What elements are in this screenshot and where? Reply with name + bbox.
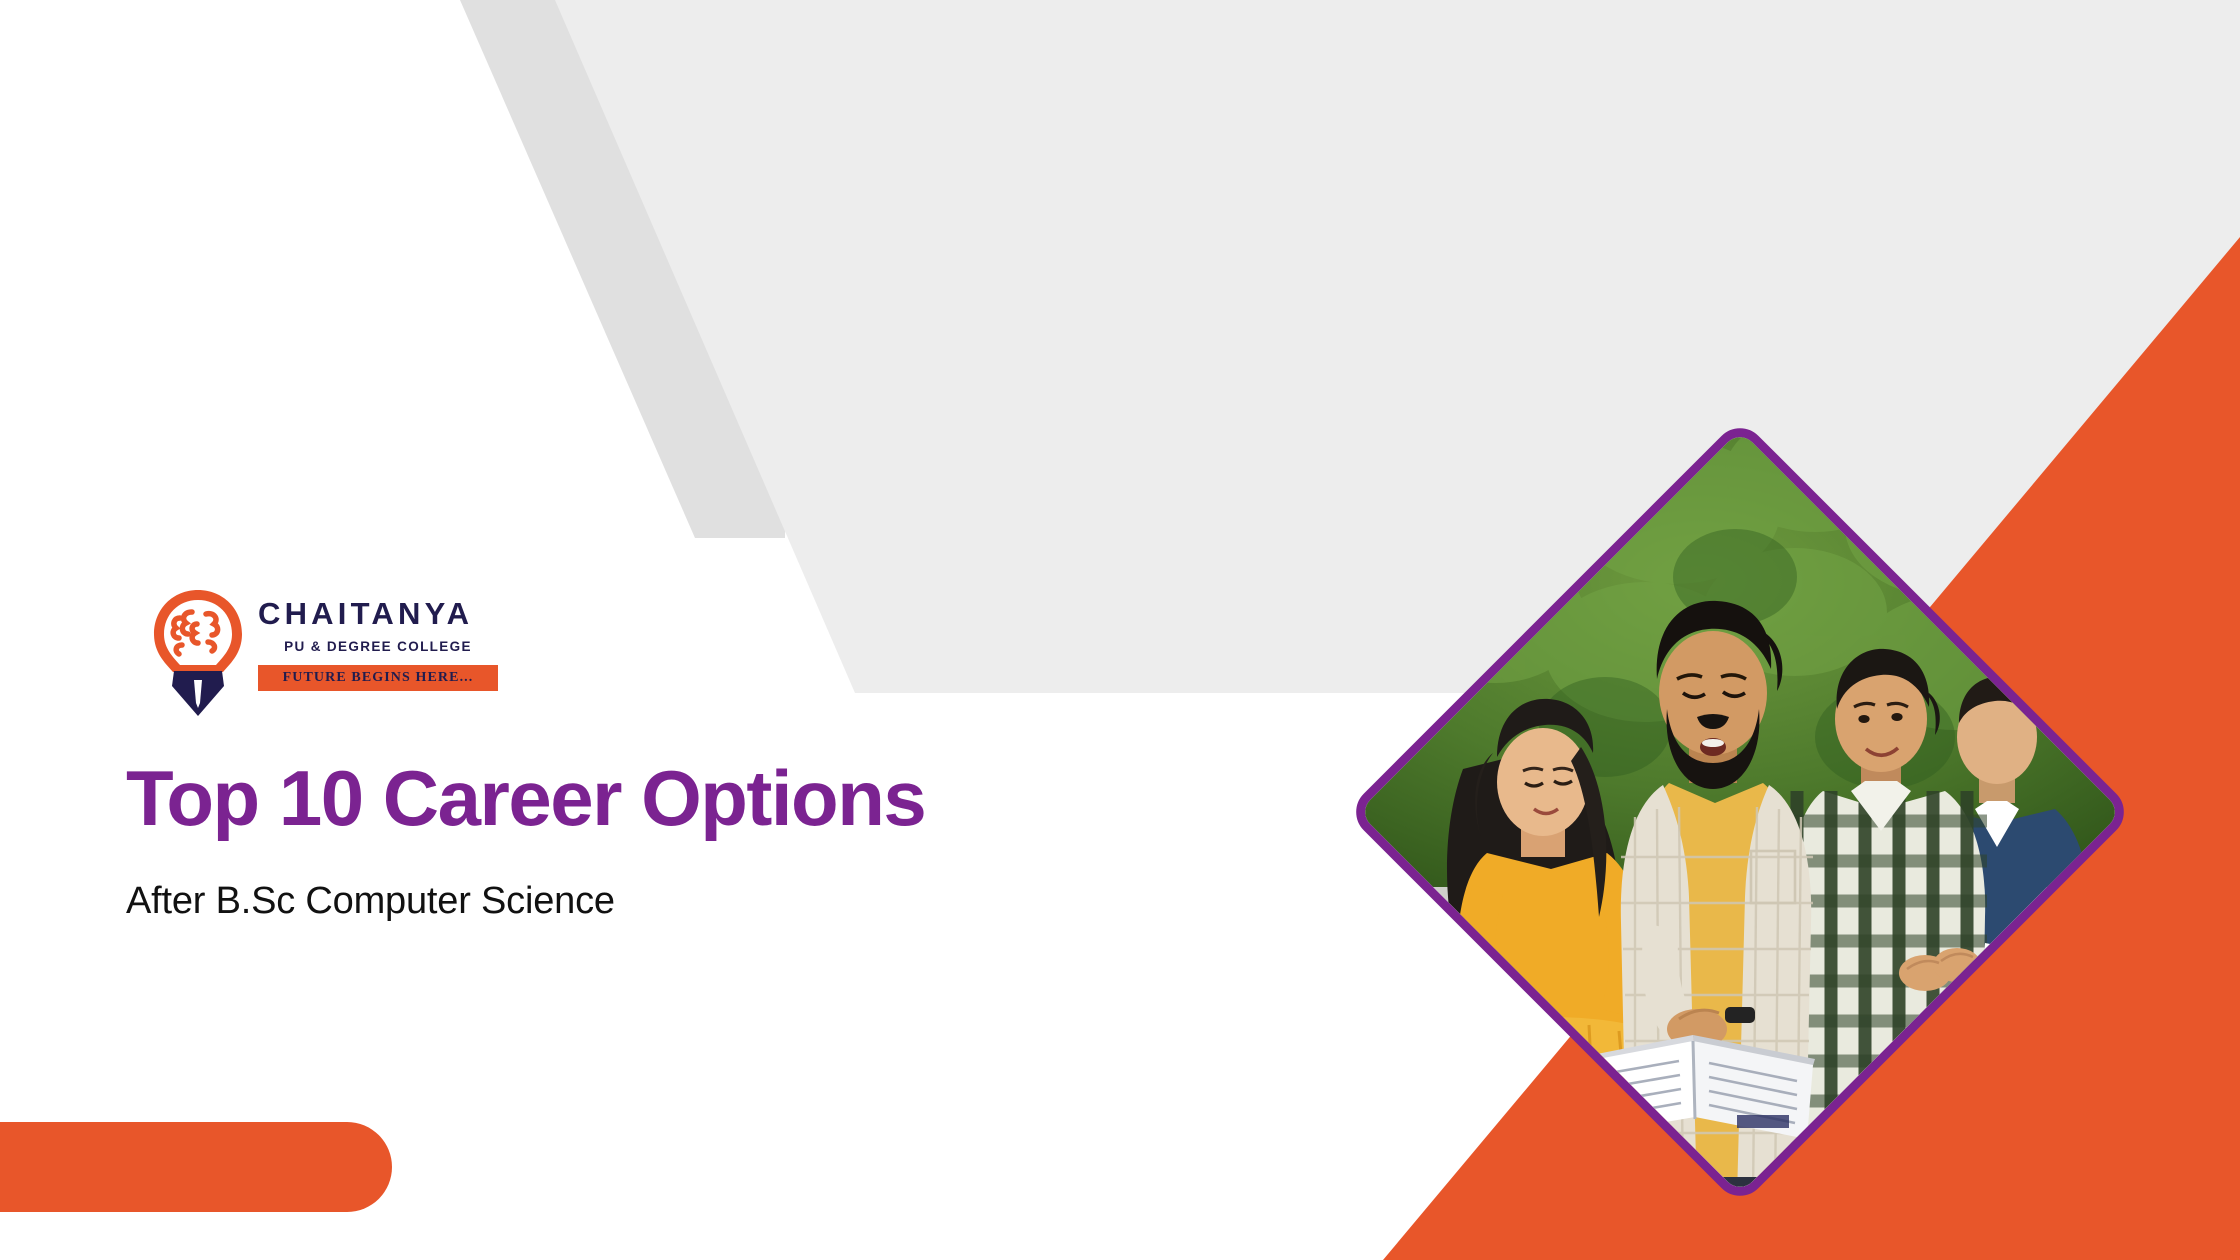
logo-tagline-bar: FUTURE BEGINS HERE... (258, 665, 498, 691)
college-logo: CHAITANYA PU & DEGREE COLLEGE FUTURE BEG… (150, 588, 490, 708)
logo-college-subtitle: PU & DEGREE COLLEGE (258, 640, 498, 654)
headline-block: Top 10 Career Options After B.Sc Compute… (126, 758, 1226, 923)
logo-tagline-text: FUTURE BEGINS HERE... (283, 671, 474, 685)
career-options-banner: CHAITANYA PU & DEGREE COLLEGE FUTURE BEG… (0, 0, 2240, 1260)
bottom-left-orange-pill (0, 1122, 392, 1212)
brain-lightbulb-pen-nib-icon (150, 588, 246, 718)
page-subtitle: After B.Sc Computer Science (126, 881, 1226, 923)
logo-college-name: CHAITANYA (258, 598, 498, 629)
logo-wordmark: CHAITANYA PU & DEGREE COLLEGE FUTURE BEG… (258, 598, 498, 691)
page-title: Top 10 Career Options (126, 758, 1226, 839)
